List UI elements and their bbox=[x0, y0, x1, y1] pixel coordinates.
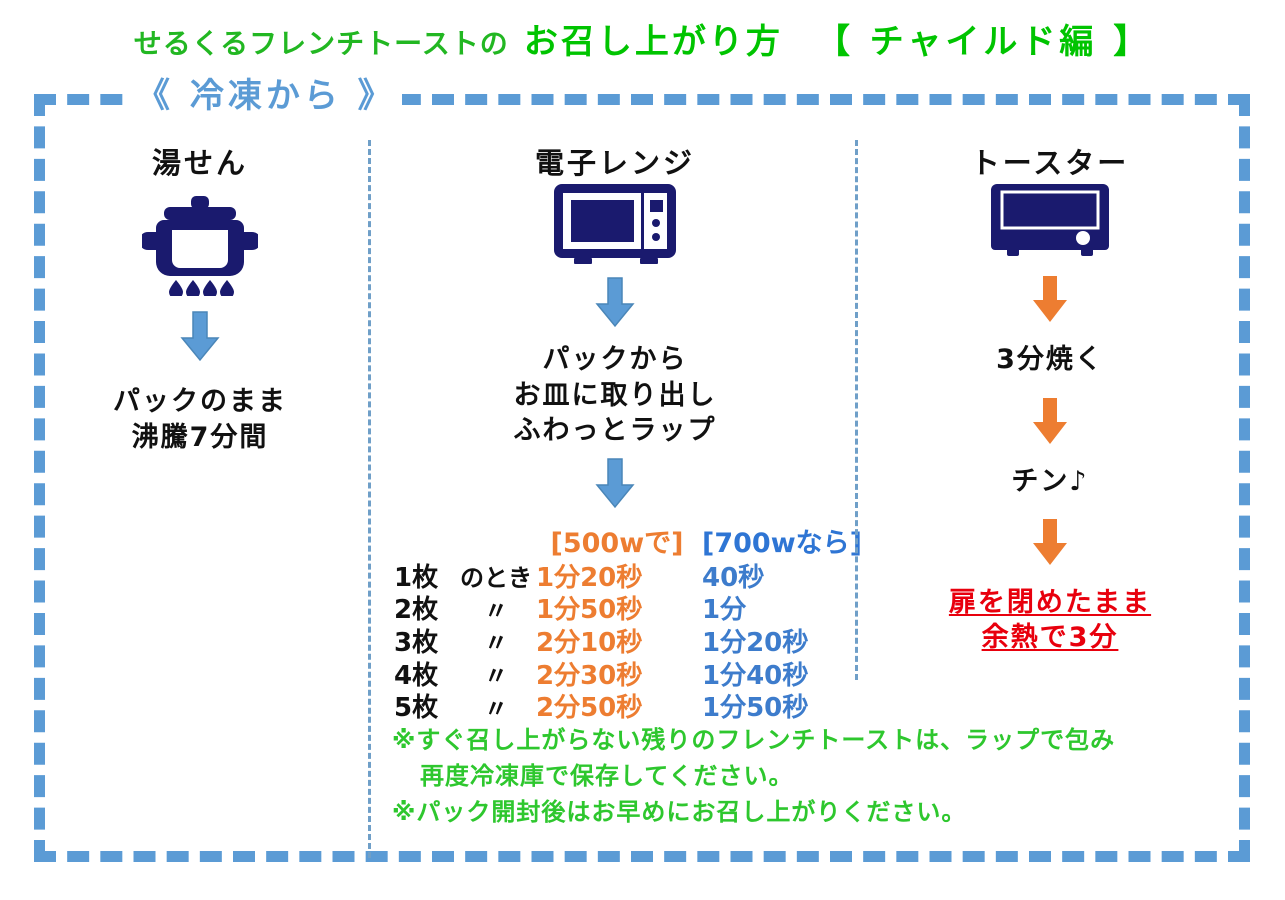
table-row: 4枚 〃 2分30秒 1分40秒 bbox=[380, 660, 864, 693]
note-line-1: ※すぐ召し上がらない残りのフレンチトーストは、ラップで包み bbox=[392, 726, 1115, 754]
method-column-boil: 湯せん bbox=[50, 140, 350, 455]
row-ditto: 〃 bbox=[458, 692, 534, 725]
row-time-500w: 2分30秒 bbox=[534, 660, 700, 693]
microwave-step-3: ふわっとラップ bbox=[380, 413, 850, 449]
microwave-icon bbox=[380, 182, 850, 268]
down-arrow-icon bbox=[1028, 274, 1072, 324]
row-time-500w: 1分50秒 bbox=[534, 594, 700, 627]
spacer-cell-2 bbox=[458, 527, 534, 562]
row-time-700w: 1分40秒 bbox=[700, 660, 864, 693]
row-time-500w: 1分20秒 bbox=[534, 562, 700, 595]
boil-step-2: 沸騰7分間 bbox=[50, 420, 350, 456]
row-time-700w: 1分20秒 bbox=[700, 627, 864, 660]
table-row: 3枚 〃 2分10秒 1分20秒 bbox=[380, 627, 864, 660]
row-count: 5枚 bbox=[380, 692, 458, 725]
header-500w: [500wで] bbox=[534, 527, 700, 562]
method-column-microwave: 電子レンジ bbox=[380, 140, 850, 725]
pot-icon bbox=[50, 192, 350, 296]
row-time-700w: 1分 bbox=[700, 594, 864, 627]
table-row: 5枚 〃 2分50秒 1分50秒 bbox=[380, 692, 864, 725]
row-ditto: のとき bbox=[458, 562, 534, 595]
method-column-toaster: トースター 3分焼く チン♪ bbox=[880, 140, 1220, 655]
toaster-step-1: 3分焼く bbox=[880, 342, 1220, 378]
method-title-toaster: トースター bbox=[880, 140, 1220, 182]
microwave-step-2: お皿に取り出し bbox=[380, 378, 850, 414]
frame-label: 《 冷凍から 》 bbox=[130, 68, 402, 117]
row-count: 2枚 bbox=[380, 594, 458, 627]
title-main: お召し上がり方 bbox=[524, 22, 783, 62]
microwave-step-1: パックから bbox=[380, 342, 850, 378]
toaster-warning-line-1: 扉を閉めたまま bbox=[949, 587, 1151, 618]
note-line-3: ※パック開封後はお早めにお召し上がりください。 bbox=[392, 798, 966, 826]
down-arrow-icon bbox=[591, 457, 639, 509]
down-arrow-icon bbox=[1028, 517, 1072, 567]
row-ditto: 〃 bbox=[458, 660, 534, 693]
note-line-2: 再度冷凍庫で保存してください。 bbox=[392, 758, 1232, 794]
row-time-500w: 2分10秒 bbox=[534, 627, 700, 660]
method-title-microwave: 電子レンジ bbox=[380, 140, 850, 182]
down-arrow-icon bbox=[176, 310, 224, 362]
toaster-warning: 扉を閉めたまま 余熱で3分 bbox=[880, 585, 1220, 655]
heating-time-table: [500wで] [700wなら] 1枚 のとき 1分20秒 40秒 2枚 〃 1… bbox=[380, 527, 864, 725]
row-time-700w: 40秒 bbox=[700, 562, 864, 595]
title-brand: せるくるフレンチトーストの bbox=[134, 27, 509, 60]
down-arrow-icon bbox=[1028, 396, 1072, 446]
toaster-icon bbox=[880, 182, 1220, 260]
table-row: 1枚 のとき 1分20秒 40秒 bbox=[380, 562, 864, 595]
spacer-cell bbox=[380, 527, 458, 562]
boil-step-1: パックのまま bbox=[50, 384, 350, 420]
page-title: せるくるフレンチトーストの お召し上がり方 【 チャイルド編 】 bbox=[0, 14, 1285, 63]
toaster-warning-line-2: 余熱で3分 bbox=[982, 622, 1119, 653]
row-count: 4枚 bbox=[380, 660, 458, 693]
table-header-row: [500wで] [700wなら] bbox=[380, 527, 864, 562]
infographic-page: せるくるフレンチトーストの お召し上がり方 【 チャイルド編 】 《 冷凍から … bbox=[0, 0, 1285, 900]
row-time-700w: 1分50秒 bbox=[700, 692, 864, 725]
column-divider-right bbox=[855, 140, 858, 680]
down-arrow-icon bbox=[591, 276, 639, 328]
row-ditto: 〃 bbox=[458, 594, 534, 627]
row-time-500w: 2分50秒 bbox=[534, 692, 700, 725]
method-title-boil: 湯せん bbox=[50, 140, 350, 182]
title-bracket: 【 チャイルド編 】 bbox=[816, 22, 1151, 62]
table-row: 2枚 〃 1分50秒 1分 bbox=[380, 594, 864, 627]
toaster-step-2: チン♪ bbox=[880, 464, 1220, 500]
row-count: 1枚 bbox=[380, 562, 458, 595]
header-700w: [700wなら] bbox=[700, 527, 864, 562]
row-ditto: 〃 bbox=[458, 627, 534, 660]
column-divider-left bbox=[368, 140, 371, 858]
storage-notes: ※すぐ召し上がらない残りのフレンチトーストは、ラップで包み 再度冷凍庫で保存して… bbox=[392, 722, 1232, 830]
row-count: 3枚 bbox=[380, 627, 458, 660]
